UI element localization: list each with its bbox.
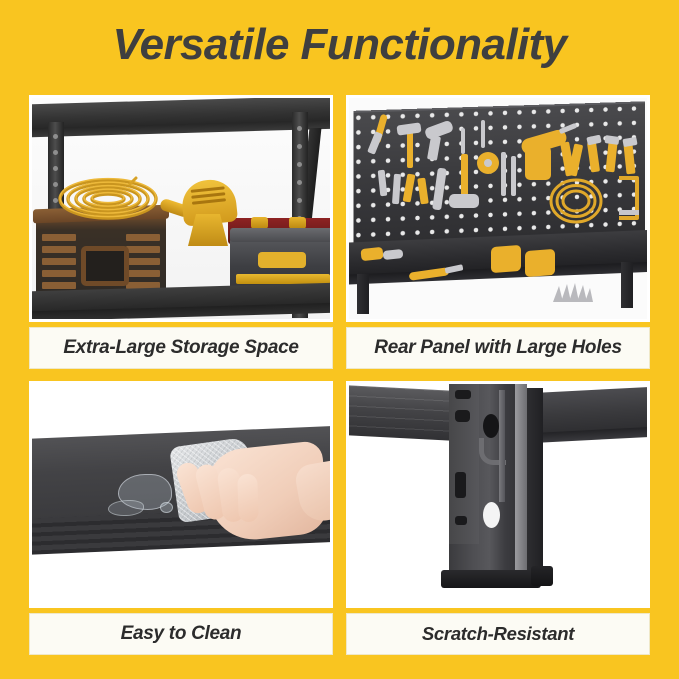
storage-scene: 50:1 50:1 [32,98,330,319]
hammer-handle [407,132,413,168]
water-droplet [160,502,173,513]
caption-storage: Extra-Large Storage Space [29,327,333,369]
post-front-edge [515,384,527,574]
clamp-bar-2 [511,156,516,196]
hacksaw [611,174,645,228]
caption-rear-panel: Rear Panel with Large Holes [346,327,650,369]
photo-easy-clean [29,381,333,608]
workbench-leg-left [357,274,369,314]
coiled-yellow-hose [549,178,603,224]
caption-easy-clean: Easy to Clean [29,613,333,655]
staple-gun-1 [491,245,521,273]
post-hole-oval-lower [483,502,500,528]
feature-poster: Versatile Functionality [0,0,679,679]
post-foot-cap [441,570,541,588]
awl-tool [481,120,485,148]
bracket-slot-upper [455,410,470,422]
photo-scratch-resistant [346,381,650,608]
post-foot-cap-side [531,566,553,586]
rubber-mallet-head [449,194,479,208]
post-closeup-scene [349,384,647,605]
post-side-face [527,388,543,574]
caption-scratch-resistant: Scratch-Resistant [346,613,650,655]
bench-tape-measure [360,247,383,261]
coiled-hose [56,176,160,222]
tool-chest-handle [258,252,306,268]
cabinet-handle [81,246,129,286]
clamp-bar [501,152,506,196]
easy-clean-scene [32,384,330,605]
post-hole-oval-upper [483,414,499,438]
page-title: Versatile Functionality [0,19,679,71]
tool-chest-lid [230,228,333,242]
shelf-beam-left [346,385,455,441]
tape-measure-center [484,159,492,167]
workbench-leg-right [621,262,633,308]
finger-pinky [237,474,259,523]
feature-card-storage[interactable]: 50:1 50:1 [29,95,333,369]
feature-card-easy-clean[interactable]: Easy to Clean [29,381,333,655]
photo-storage-shelf: 50:1 50:1 [29,95,333,322]
bracket-slot-top [455,390,471,399]
feature-card-scratch-resistant[interactable]: Scratch-Resistant [346,381,650,655]
feature-card-rear-panel[interactable]: Rear Panel with Large Holes [346,95,650,369]
screwdriver-shaft [461,128,465,154]
feature-grid: 50:1 50:1 [29,95,650,655]
drill-bit-set [547,280,595,304]
bracket-slot-lower [455,516,467,525]
rubber-mallet-handle [461,154,468,198]
photo-pegboard [346,95,650,322]
bracket-slot-mid [455,472,466,498]
pegboard-scene [349,98,647,319]
staple-gun-2 [525,249,555,277]
post-vertical-groove [499,390,505,502]
